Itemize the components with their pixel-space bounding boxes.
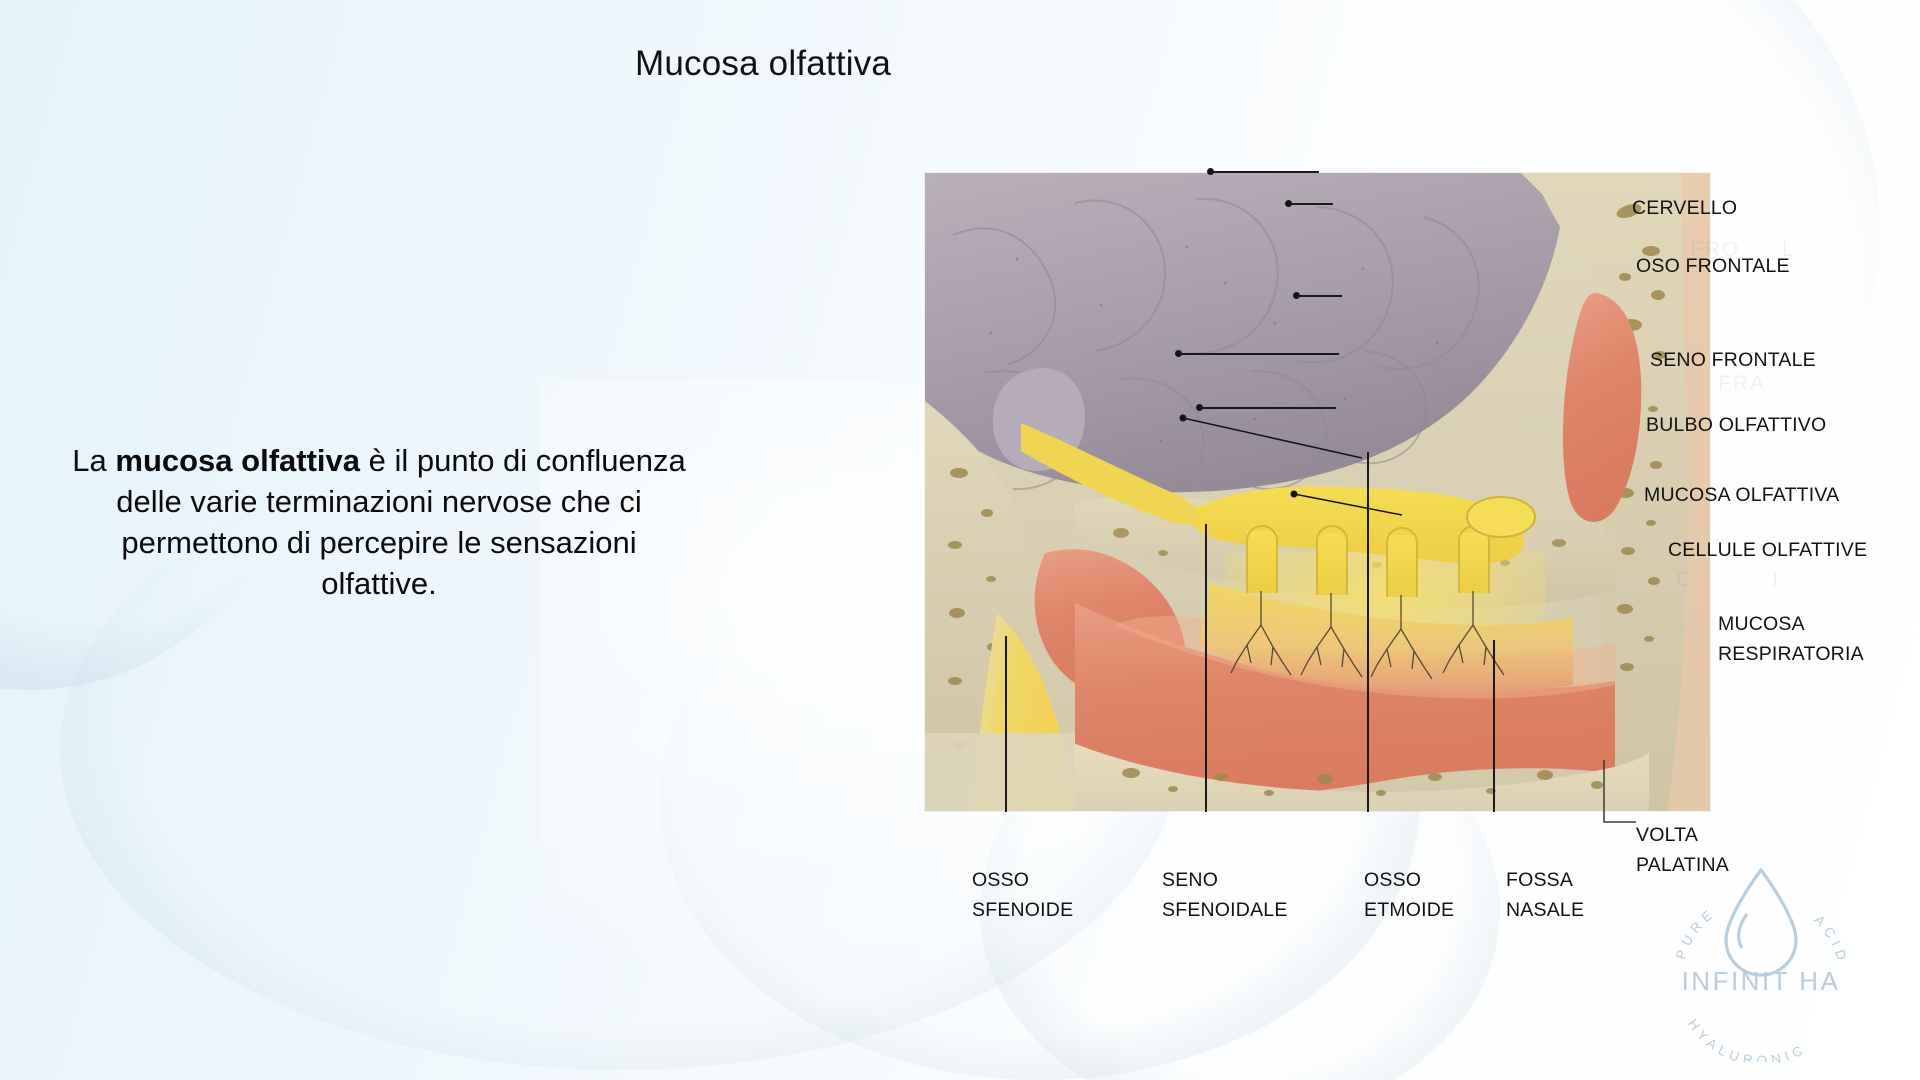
leader-line-cellule-olfattive — [1150, 390, 1370, 470]
body-line-1-suffix: è il punto di confluenza — [360, 443, 686, 478]
label-fossa-nasale-line2: NASALE — [1506, 898, 1584, 923]
logo-circular-text-top: PURE — [1673, 905, 1719, 962]
watermark-fragment: I — [1772, 568, 1780, 592]
body-paragraph: La mucosa olfattiva è il punto di conflu… — [8, 440, 750, 604]
body-line-4: olfattive. — [8, 563, 750, 604]
logo-circular-text-right: ACID — [1811, 912, 1850, 966]
leader-line-seno-frontale — [1297, 295, 1342, 297]
water-drop-icon — [1726, 870, 1796, 975]
presentation-slide: Mucosa olfattiva La mucosa olfattiva è i… — [0, 0, 1920, 1080]
watermark-fragment: C — [1676, 568, 1693, 592]
decorative-bubble — [0, 170, 290, 690]
leader-line-seno-sfenoidale — [1205, 524, 1207, 812]
page-title: Mucosa olfattiva — [635, 44, 891, 84]
watermark-fragment: L — [1782, 238, 1796, 262]
label-volta-palatina-line1: VOLTA — [1636, 823, 1698, 848]
label-mucosa-olfattiva: MUCOSA OLFATTIVA — [1644, 483, 1839, 508]
label-osso-etmoide-line2: ETMOIDE — [1364, 898, 1454, 923]
body-line-1-bold: mucosa olfattiva — [115, 443, 360, 478]
leader-line-cervello — [1211, 171, 1319, 173]
body-line-1: La mucosa olfattiva è il punto di conflu… — [8, 440, 750, 481]
body-line-2: delle varie terminazioni nervose che ci — [8, 481, 750, 522]
label-seno-sfenoidale-line2: SFENOIDALE — [1162, 898, 1288, 923]
leader-line-mucosa-respiratoria — [1280, 480, 1410, 525]
label-osso-sfenoide-line2: SFENOIDE — [972, 898, 1073, 923]
label-mucosa-respiratoria-line1: MUCOSA — [1718, 612, 1805, 637]
leader-line-bulbo-olfattivo — [1179, 353, 1339, 355]
body-line-3: permettono di percepire le sensazioni — [8, 522, 750, 563]
logo-wordmark: INFINIT HA — [1682, 966, 1841, 996]
watermark-fragment: FRO — [1690, 238, 1740, 262]
label-osso-sfenoide-line1: OSSO — [972, 868, 1029, 893]
logo-svg: PURE ACID HYALURONIC INFINIT HA — [1652, 862, 1870, 1062]
leader-line-osso-etmoide — [1367, 452, 1369, 812]
brand-logo: PURE ACID HYALURONIC INFINIT HA — [1652, 862, 1870, 1062]
label-mucosa-respiratoria-line2: RESPIRATORIA — [1718, 642, 1864, 667]
logo-circular-text-bottom: HYALURONIC — [1685, 1016, 1809, 1062]
label-bulbo-olfattivo: BULBO OLFATTIVO — [1646, 413, 1826, 438]
label-fossa-nasale-line1: FOSSA — [1506, 868, 1573, 893]
label-seno-sfenoidale-line1: SENO — [1162, 868, 1218, 893]
leader-line-osso-sfenoide — [1005, 636, 1007, 812]
label-seno-frontale: SENO FRONTALE — [1650, 348, 1816, 373]
body-line-1-prefix: La — [72, 443, 115, 478]
label-cellule-olfattive: CELLULE OLFATTIVE — [1668, 538, 1867, 563]
watermark-fragment: FRA — [1718, 372, 1766, 396]
label-osso-etmoide-line1: OSSO — [1364, 868, 1421, 893]
leader-line-fossa-nasale — [1493, 640, 1495, 812]
leader-line-oso-frontale — [1289, 203, 1333, 205]
label-cervello: CERVELLO — [1632, 196, 1737, 221]
